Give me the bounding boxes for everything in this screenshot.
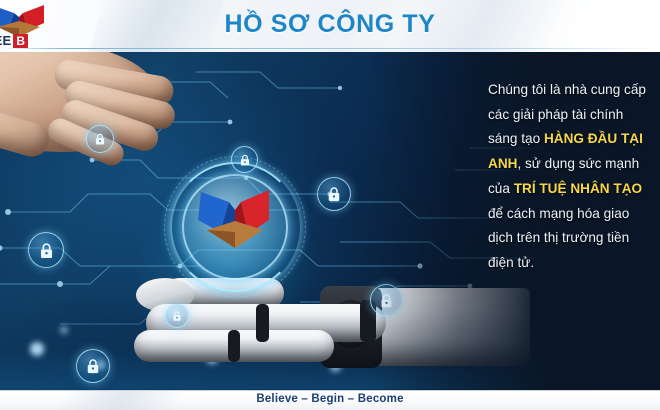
company-description: Chúng tôi là nhà cung cấp các giải pháp …: [488, 78, 650, 276]
padlock-badge-4: [28, 232, 64, 268]
lock-icon: [84, 357, 102, 375]
bokeh-light: [60, 326, 68, 334]
lock-icon: [93, 132, 107, 146]
robot-knuckle: [256, 304, 269, 342]
padlock-badge-3: [317, 177, 351, 211]
padlock-badge-7: [165, 304, 189, 328]
padlock-badge-5: [76, 349, 110, 383]
lock-icon: [37, 241, 56, 260]
company-emblem: [160, 152, 310, 302]
padlock-badge-2: [231, 146, 258, 173]
lock-icon: [325, 185, 343, 203]
page-footer: Believe – Begin – Become: [0, 390, 660, 410]
description-text: để cách mạng hóa giao dịch trên thị trườ…: [488, 206, 629, 270]
lock-icon: [171, 310, 183, 322]
lock-icon: [238, 153, 252, 167]
company-tagline: Believe – Begin – Become: [0, 393, 660, 405]
page-header: REE B HỒ SƠ CÔNG TY: [0, 0, 660, 52]
robot-knuckle: [228, 330, 240, 362]
padlock-badge-1: [86, 125, 114, 153]
three-b-cube-logo: [198, 186, 272, 264]
bokeh-light: [30, 342, 44, 356]
page-title: HỒ SƠ CÔNG TY: [0, 10, 660, 39]
description-highlight: TRÍ TUỆ NHÂN TẠO: [514, 181, 642, 196]
